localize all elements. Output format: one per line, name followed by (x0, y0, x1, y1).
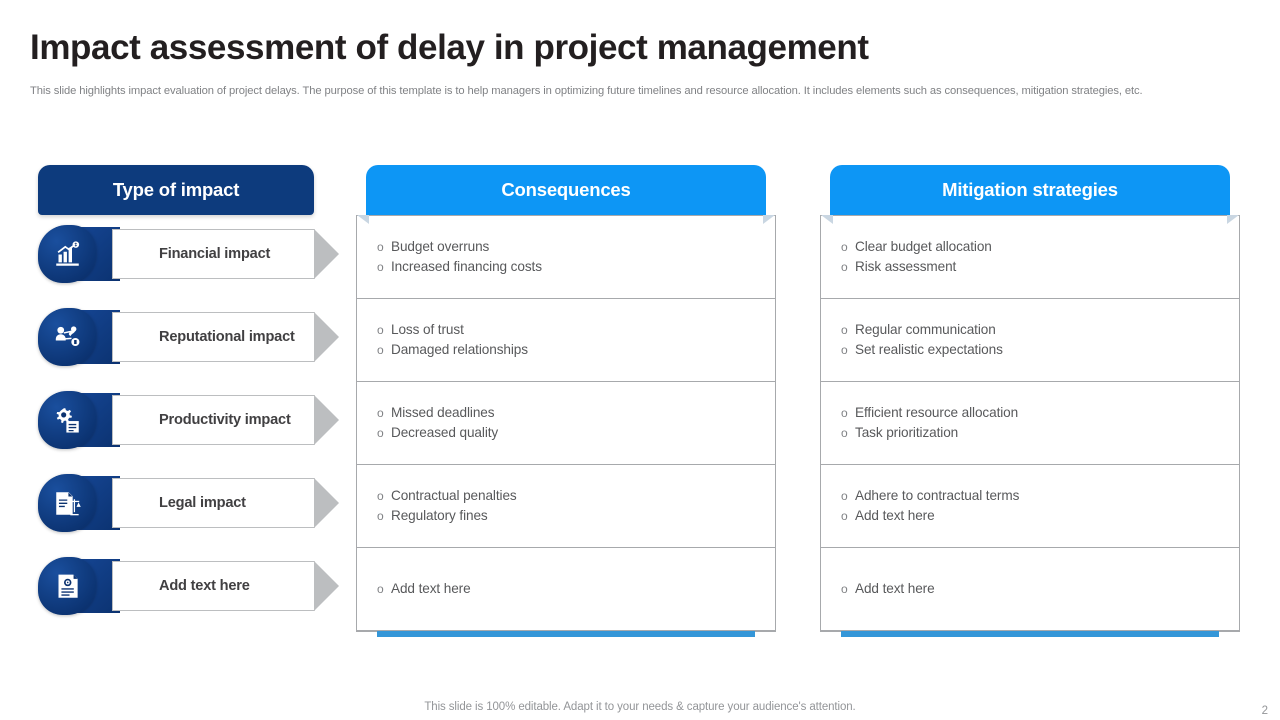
impact-row-label: Add text here (112, 561, 315, 611)
bullet-circle-icon: o (377, 507, 391, 526)
mitigation-column-header: Mitigation strategies (830, 165, 1230, 215)
list-item-label: Regular communication (855, 321, 996, 340)
list-item: oDecreased quality (377, 424, 775, 443)
list-item: oAdhere to contractual terms (841, 487, 1239, 506)
list-item-label: Clear budget allocation (855, 238, 992, 257)
impact-row-label: Productivity impact (112, 395, 315, 445)
impact-row-arrow (314, 395, 338, 445)
list-item: oIncreased financing costs (377, 258, 775, 277)
list-item-label: Decreased quality (391, 424, 498, 443)
bullet-circle-icon: o (377, 238, 391, 257)
impact-row-arrow (314, 478, 338, 528)
list-item-label: Increased financing costs (391, 258, 542, 277)
card-section[interactable]: oClear budget allocationoRisk assessment (821, 216, 1239, 299)
card-section[interactable]: oEfficient resource allocationoTask prio… (821, 382, 1239, 465)
impact-row[interactable]: Legal impact (38, 476, 338, 530)
list-item: oMissed deadlines (377, 404, 775, 423)
list-item: oBudget overruns (377, 238, 775, 257)
footer-note: This slide is 100% editable. Adapt it to… (0, 701, 1280, 713)
card-section[interactable]: oAdhere to contractual termsoAdd text he… (821, 465, 1239, 548)
bullet-circle-icon: o (377, 424, 391, 443)
impact-list: Financial impactReputational impactProdu… (38, 227, 338, 642)
list-item: oAdd text here (377, 580, 775, 599)
bullet-circle-icon: o (377, 404, 391, 423)
card-section[interactable]: oRegular communicationoSet realistic exp… (821, 299, 1239, 382)
list-item: oRegulatory fines (377, 507, 775, 526)
list-item-label: Contractual penalties (391, 487, 517, 506)
card-section[interactable]: oLoss of trustoDamaged relationships (357, 299, 775, 382)
bullet-circle-icon: o (841, 580, 855, 599)
list-item: oSet realistic expectations (841, 341, 1239, 360)
list-item-label: Adhere to contractual terms (855, 487, 1019, 506)
bar-chart-dollar-icon (38, 225, 96, 283)
list-item-label: Add text here (391, 580, 471, 599)
list-item: oRisk assessment (841, 258, 1239, 277)
certificate-document-icon (38, 557, 96, 615)
list-item-label: Efficient resource allocation (855, 404, 1018, 423)
bullet-circle-icon: o (841, 258, 855, 277)
consequences-card-body: oBudget overrunsoIncreased financing cos… (356, 215, 776, 632)
bullet-circle-icon: o (841, 404, 855, 423)
bullet-circle-icon: o (377, 487, 391, 506)
legal-document-scales-icon (38, 474, 96, 532)
bullet-circle-icon: o (377, 580, 391, 599)
consequences-column: Consequences oBudget overrunsoIncreased … (356, 165, 776, 632)
impact-row-arrow (314, 561, 338, 611)
impact-row-arrow (314, 229, 338, 279)
list-item: oContractual penalties (377, 487, 775, 506)
mitigation-accent-bar (841, 631, 1219, 637)
gear-checklist-icon (38, 391, 96, 449)
impact-row[interactable]: Financial impact (38, 227, 338, 281)
bullet-circle-icon: o (377, 258, 391, 277)
impact-row[interactable]: Reputational impact (38, 310, 338, 364)
bullet-circle-icon: o (377, 321, 391, 340)
impact-row-label: Financial impact (112, 229, 315, 279)
list-item-label: Loss of trust (391, 321, 464, 340)
list-item-label: Regulatory fines (391, 507, 488, 526)
list-item-label: Budget overruns (391, 238, 489, 257)
list-item-label: Missed deadlines (391, 404, 494, 423)
slide: Impact assessment of delay in project ma… (0, 0, 1280, 720)
list-item: oRegular communication (841, 321, 1239, 340)
card-section[interactable]: oBudget overrunsoIncreased financing cos… (357, 216, 775, 299)
bullet-circle-icon: o (377, 341, 391, 360)
impact-column-header: Type of impact (38, 165, 314, 215)
list-item: oClear budget allocation (841, 238, 1239, 257)
list-item: oAdd text here (841, 580, 1239, 599)
card-section[interactable]: oAdd text here (821, 548, 1239, 631)
bullet-circle-icon: o (841, 507, 855, 526)
list-item: oDamaged relationships (377, 341, 775, 360)
bullet-circle-icon: o (841, 487, 855, 506)
list-item-label: Risk assessment (855, 258, 956, 277)
card-section[interactable]: oAdd text here (357, 548, 775, 631)
bullet-circle-icon: o (841, 238, 855, 257)
list-item: oLoss of trust (377, 321, 775, 340)
list-item-label: Damaged relationships (391, 341, 528, 360)
list-item-label: Task prioritization (855, 424, 958, 443)
impact-row[interactable]: Add text here (38, 559, 338, 613)
bullet-circle-icon: o (841, 424, 855, 443)
impact-row-arrow (314, 312, 338, 362)
impact-row-label: Reputational impact (112, 312, 315, 362)
mitigation-column: Mitigation strategies oClear budget allo… (820, 165, 1240, 632)
impact-row-label: Legal impact (112, 478, 315, 528)
bullet-circle-icon: o (841, 341, 855, 360)
list-item: oEfficient resource allocation (841, 404, 1239, 423)
consequences-column-header: Consequences (366, 165, 766, 215)
page-subtitle: This slide highlights impact evaluation … (30, 85, 1143, 97)
list-item-label: Add text here (855, 580, 935, 599)
mitigation-card-body: oClear budget allocationoRisk assessment… (820, 215, 1240, 632)
page-number: 2 (1262, 705, 1268, 717)
consequences-accent-bar (377, 631, 755, 637)
card-section[interactable]: oContractual penaltiesoRegulatory fines (357, 465, 775, 548)
impact-row[interactable]: Productivity impact (38, 393, 338, 447)
people-network-icon (38, 308, 96, 366)
list-item-label: Add text here (855, 507, 935, 526)
list-item-label: Set realistic expectations (855, 341, 1003, 360)
list-item: oAdd text here (841, 507, 1239, 526)
bullet-circle-icon: o (841, 321, 855, 340)
list-item: oTask prioritization (841, 424, 1239, 443)
impact-column: Type of impact Financial impactReputatio… (38, 165, 314, 215)
card-section[interactable]: oMissed deadlinesoDecreased quality (357, 382, 775, 465)
page-title: Impact assessment of delay in project ma… (30, 28, 869, 68)
